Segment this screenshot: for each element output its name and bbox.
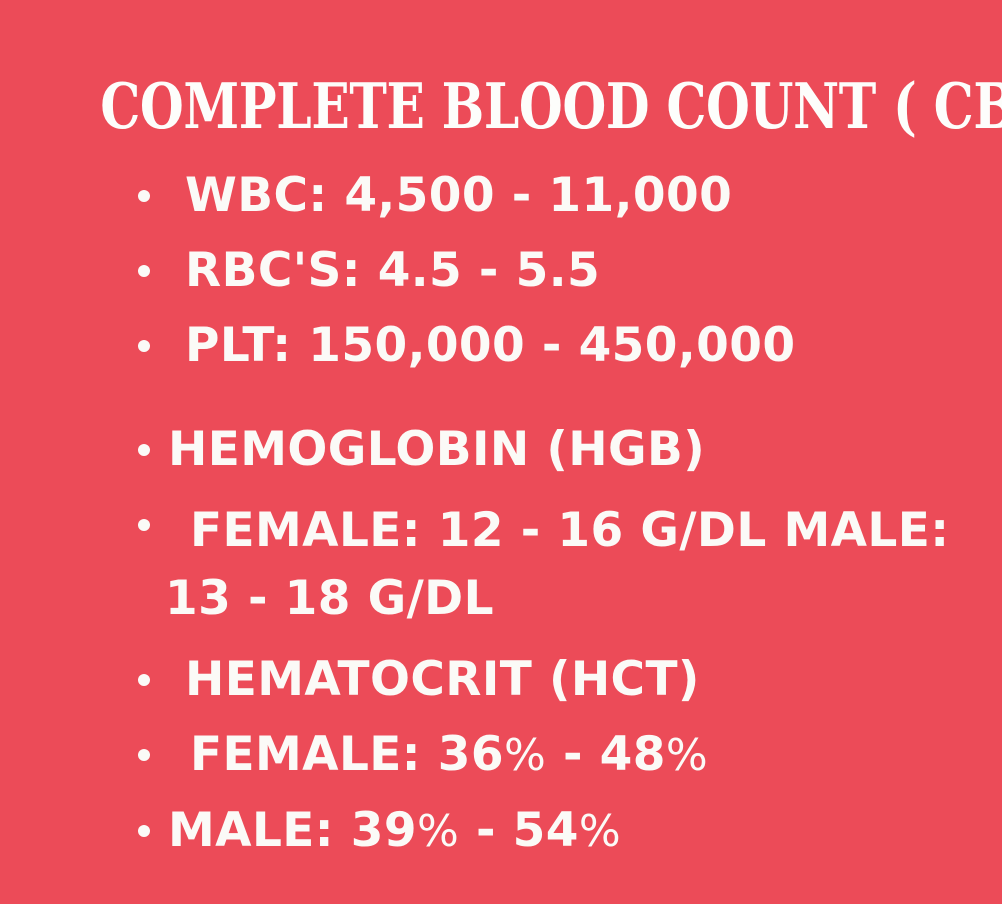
list-item-label: HEMOGLOBIN (HGB) xyxy=(168,422,705,477)
list-item-label-prefix: FEMALE: 36 xyxy=(190,727,504,782)
bullet-icon xyxy=(138,265,150,277)
bullet-icon xyxy=(138,444,150,456)
list-item-label-line2: 13 - 18 G/DL xyxy=(165,565,962,633)
list-item-label: PLT: 150,000 - 450,000 xyxy=(185,318,795,373)
percent-glyph: % xyxy=(666,730,708,781)
bullet-icon xyxy=(138,519,150,531)
bullet-icon xyxy=(138,825,150,837)
list-item-wbc: WBC: 4,500 - 11,000 xyxy=(0,168,1002,224)
bullet-icon xyxy=(138,340,150,352)
list-item-hemoglobin-ranges: FEMALE: 12 - 16 G/DL MALE: 13 - 18 G/DL xyxy=(0,497,1002,633)
list-item-hematocrit-female: FEMALE: 36% - 48% xyxy=(0,727,1002,784)
percent-glyph: % xyxy=(579,806,621,857)
page-title: COMPLETE BLOOD COUNT ( CBC ) xyxy=(100,72,902,140)
bullet-icon xyxy=(138,190,150,202)
percent-glyph: % xyxy=(417,806,459,857)
list-item-label-middle: - 54 xyxy=(459,803,579,858)
list-item-hematocrit: HEMATOCRIT (HCT) xyxy=(0,652,1002,708)
bullet-icon xyxy=(138,674,150,686)
list-item-label: RBC'S: 4.5 - 5.5 xyxy=(185,243,600,298)
percent-glyph: % xyxy=(504,730,546,781)
list-item-label: HEMATOCRIT (HCT) xyxy=(185,652,700,707)
list-item-hematocrit-male: MALE: 39% - 54% xyxy=(0,803,1002,860)
list-item-label: WBC: 4,500 - 11,000 xyxy=(185,168,732,223)
list-item-plt: PLT: 150,000 - 450,000 xyxy=(0,318,1002,374)
list-item-label-middle: - 48 xyxy=(546,727,666,782)
list-item-label-prefix: MALE: 39 xyxy=(168,803,417,858)
reference-range-list: WBC: 4,500 - 11,000 RBC'S: 4.5 - 5.5 PLT… xyxy=(0,168,1002,874)
cbc-poster: COMPLETE BLOOD COUNT ( CBC ) WBC: 4,500 … xyxy=(0,0,1002,904)
list-item-hemoglobin: HEMOGLOBIN (HGB) xyxy=(0,422,1002,478)
list-item-label-line1: FEMALE: 12 - 16 G/DL MALE: xyxy=(190,503,949,558)
list-item-rbc: RBC'S: 4.5 - 5.5 xyxy=(0,243,1002,299)
bullet-icon xyxy=(138,749,150,761)
